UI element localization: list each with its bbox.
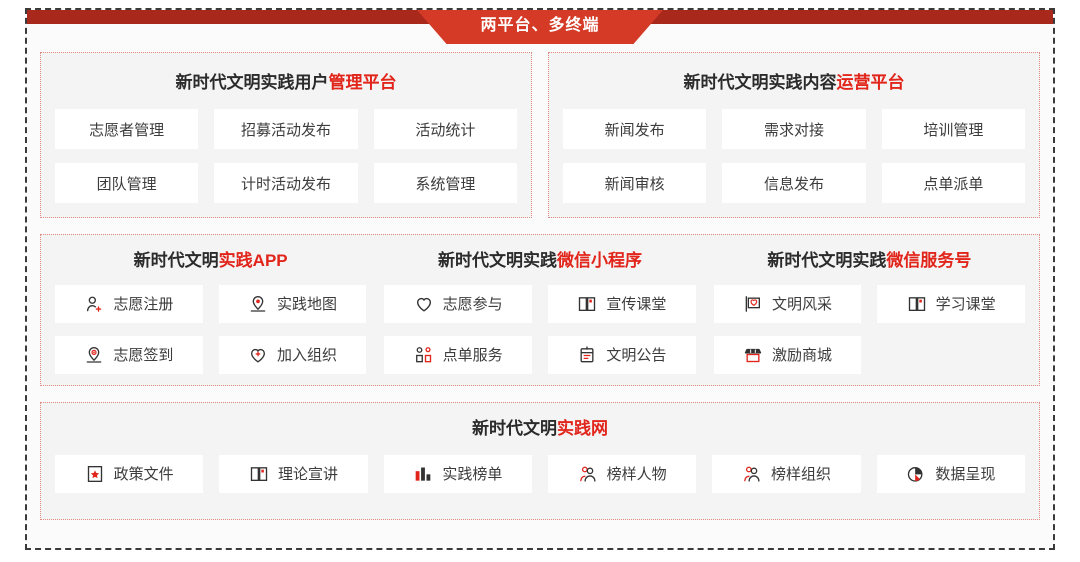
- title-plain: 新时代文明实践用户: [176, 73, 329, 92]
- terminal-title-service-account: 新时代文明实践微信服务号: [714, 251, 1025, 271]
- website-cell-data-presentation[interactable]: 数据呈现: [877, 455, 1025, 493]
- panel-content-operation-platform: 新时代文明实践内容运营平台 新闻发布 需求对接 培训管理 新闻审核 信息发布 点…: [548, 52, 1040, 218]
- user-plus-icon: [84, 294, 104, 314]
- banner-ribbon: 两平台、多终端: [417, 10, 663, 44]
- panel-website: 新时代文明实践网 政策文件: [40, 402, 1040, 520]
- website-cell-label: 实践榜单: [442, 467, 502, 482]
- title-highlight: 实践APP: [219, 251, 288, 270]
- terminal-cell-label: 志愿注册: [113, 297, 173, 312]
- shop-icon: [743, 345, 763, 365]
- terminal-cell-label: 志愿参与: [443, 297, 503, 312]
- document-star-icon: [85, 464, 105, 484]
- terminal-cell-label: 实践地图: [277, 297, 337, 312]
- terminal-cell-civilization-notice[interactable]: 文明公告: [548, 336, 696, 374]
- terminal-cell-learning-classroom[interactable]: 学习课堂: [877, 285, 1025, 323]
- terminal-column-service-account: 新时代文明实践微信服务号: [714, 245, 1025, 374]
- website-title: 新时代文明实践网: [55, 419, 1025, 439]
- feature-cell[interactable]: 新闻发布: [563, 109, 706, 149]
- feature-cell[interactable]: 计时活动发布: [214, 163, 357, 203]
- infographic-stage: 两平台、多终端 新时代文明实践用户管理平台 志愿者管理 招募活动发布 活动统计 …: [0, 0, 1080, 562]
- title-plain: 新时代文明实践内容: [684, 73, 837, 92]
- feature-grid-content-operation: 新闻发布 需求对接 培训管理 新闻审核 信息发布 点单派单: [563, 109, 1025, 203]
- title-plain: 新时代文明实践: [767, 251, 886, 270]
- feature-cell[interactable]: 招募活动发布: [214, 109, 357, 149]
- heart-icon: [414, 294, 434, 314]
- title-plain: 新时代文明: [134, 251, 219, 270]
- website-cell-label: 数据呈现: [935, 467, 995, 482]
- website-row: 新时代文明实践网 政策文件: [40, 402, 1040, 520]
- pie-chart-icon: [906, 464, 926, 484]
- title-highlight: 运营平台: [837, 73, 905, 92]
- terminal-cell-label: 点单服务: [443, 348, 503, 363]
- feature-grid-user-management: 志愿者管理 招募活动发布 活动统计 团队管理 计时活动发布 系统管理: [55, 109, 517, 203]
- website-cell-role-model-people[interactable]: 榜样人物: [548, 455, 696, 493]
- terminal-cell-incentive-mall[interactable]: 激励商城: [714, 336, 862, 374]
- two-people-icon: [578, 464, 598, 484]
- website-cell-label: 榜样人物: [607, 467, 667, 482]
- feature-cell[interactable]: 志愿者管理: [55, 109, 198, 149]
- terminal-cell-label: 志愿签到: [113, 348, 173, 363]
- terminal-cell-label: 激励商城: [772, 348, 832, 363]
- feature-cell[interactable]: 团队管理: [55, 163, 198, 203]
- open-book-icon: [577, 294, 597, 314]
- feature-cell[interactable]: 培训管理: [882, 109, 1025, 149]
- bar-chart-icon: [413, 464, 433, 484]
- terminal-cell-label: 加入组织: [277, 348, 337, 363]
- platforms-row: 新时代文明实践用户管理平台 志愿者管理 招募活动发布 活动统计 团队管理 计时活…: [40, 52, 1040, 218]
- terminals-row: 新时代文明实践APP: [40, 234, 1040, 386]
- website-cell-policy-documents[interactable]: 政策文件: [55, 455, 203, 493]
- feature-cell[interactable]: 点单派单: [882, 163, 1025, 203]
- heart-frame-icon: [743, 294, 763, 314]
- title-plain: 新时代文明实践: [438, 251, 557, 270]
- feature-cell[interactable]: 信息发布: [722, 163, 865, 203]
- terminal-title-miniprogram: 新时代文明实践微信小程序: [384, 251, 695, 271]
- terminal-cell-publicity-classroom[interactable]: 宣传课堂: [548, 285, 696, 323]
- website-grid: 政策文件 理论宣讲: [55, 455, 1025, 493]
- terminal-column-app: 新时代文明实践APP: [55, 245, 366, 374]
- terminal-grid-miniprogram: 志愿参与 宣传课堂: [384, 285, 695, 374]
- terminal-cell-civilization-style[interactable]: 文明风采: [714, 285, 862, 323]
- open-book-icon: [907, 294, 927, 314]
- banner-title: 两平台、多终端: [480, 18, 599, 36]
- website-cell-theory-lecture[interactable]: 理论宣讲: [219, 455, 367, 493]
- terminal-column-miniprogram: 新时代文明实践微信小程序 志愿参与: [384, 245, 695, 374]
- panel-user-management-platform: 新时代文明实践用户管理平台 志愿者管理 招募活动发布 活动统计 团队管理 计时活…: [40, 52, 532, 218]
- website-cell-label: 理论宣讲: [278, 467, 338, 482]
- panel-title-user-management: 新时代文明实践用户管理平台: [55, 73, 517, 93]
- terminal-cell-volunteer-checkin[interactable]: 志愿签到: [55, 336, 203, 374]
- terminal-cell-order-service[interactable]: 点单服务: [384, 336, 532, 374]
- terminal-cell-label: 宣传课堂: [606, 297, 666, 312]
- website-cell-role-model-organization[interactable]: 榜样组织: [712, 455, 860, 493]
- terminal-cell-join-organization[interactable]: 加入组织: [219, 336, 367, 374]
- terminal-grid-service-account: 文明风采 学习课堂: [714, 285, 1025, 374]
- terminal-cell-label: 文明风采: [772, 297, 832, 312]
- feature-cell[interactable]: 活动统计: [374, 109, 517, 149]
- feature-cell[interactable]: 需求对接: [722, 109, 865, 149]
- terminal-cell-label: 学习课堂: [936, 297, 996, 312]
- open-book-icon: [249, 464, 269, 484]
- terminal-cell-volunteer-participate[interactable]: 志愿参与: [384, 285, 532, 323]
- terminal-title-app: 新时代文明实践APP: [55, 251, 366, 271]
- panel-title-content-operation: 新时代文明实践内容运营平台: [563, 73, 1025, 93]
- title-highlight: 实践网: [557, 419, 608, 438]
- feature-cell[interactable]: 系统管理: [374, 163, 517, 203]
- title-highlight: 微信小程序: [557, 251, 642, 270]
- title-highlight: 管理平台: [329, 73, 397, 92]
- two-people-icon: [742, 464, 762, 484]
- website-cell-label: 榜样组织: [771, 467, 831, 482]
- title-highlight: 微信服务号: [886, 251, 971, 270]
- map-pin-check-icon: [84, 345, 104, 365]
- terminal-cell-volunteer-register[interactable]: 志愿注册: [55, 285, 203, 323]
- terminal-cell-practice-map[interactable]: 实践地图: [219, 285, 367, 323]
- website-cell-practice-ranking[interactable]: 实践榜单: [384, 455, 532, 493]
- terminal-cell-label: 文明公告: [606, 348, 666, 363]
- content-area: 新时代文明实践用户管理平台 志愿者管理 招募活动发布 活动统计 团队管理 计时活…: [40, 52, 1040, 538]
- group-people-icon: [414, 345, 434, 365]
- heart-plus-icon: [248, 345, 268, 365]
- title-plain: 新时代文明: [472, 419, 557, 438]
- panel-terminals: 新时代文明实践APP: [40, 234, 1040, 386]
- terminal-grid-app: 志愿注册 实践地图: [55, 285, 366, 374]
- feature-cell[interactable]: 新闻审核: [563, 163, 706, 203]
- website-cell-label: 政策文件: [114, 467, 174, 482]
- clipboard-icon: [577, 345, 597, 365]
- map-pin-icon: [248, 294, 268, 314]
